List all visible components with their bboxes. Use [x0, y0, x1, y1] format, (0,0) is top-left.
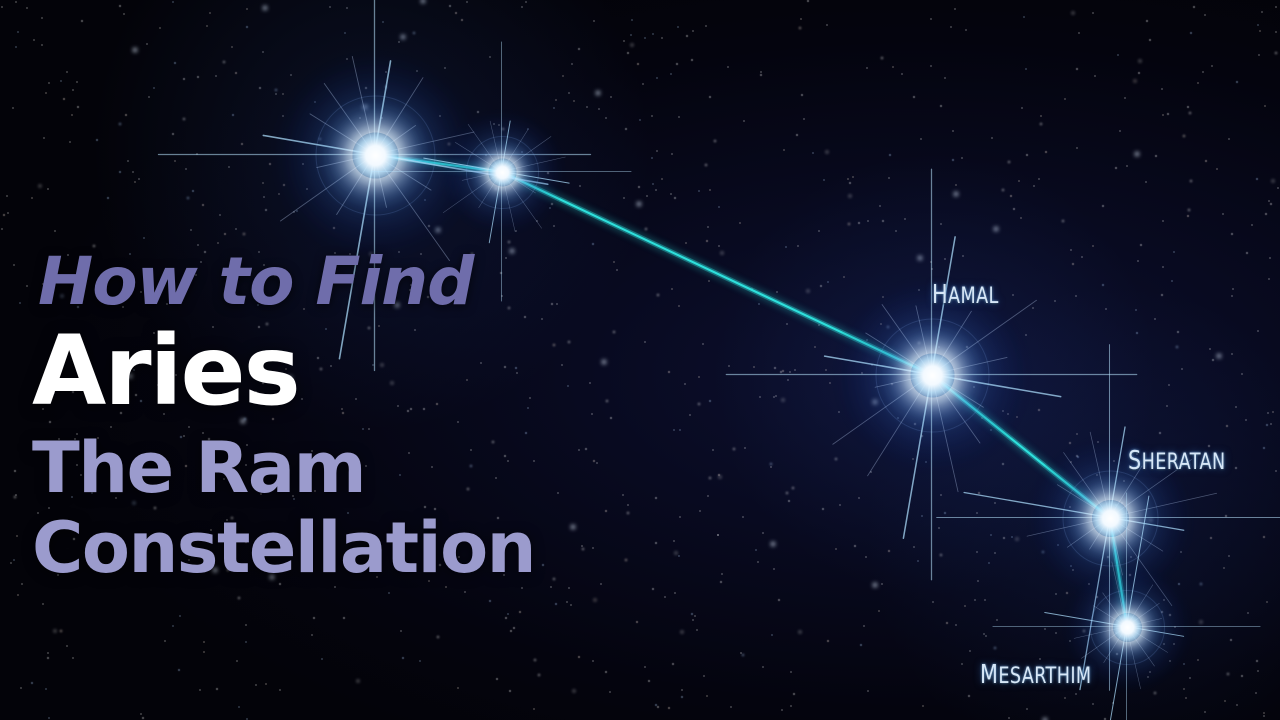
subtitle-line-1: The Ram — [32, 429, 672, 509]
background-starfield — [0, 0, 2, 2]
headline-block: How to Find Aries The Ram Constellation — [32, 248, 672, 589]
page-title: Aries — [32, 323, 672, 419]
subtitle-text: The Ram Constellation — [32, 429, 672, 589]
constellation-graphic: HamalSheratanMesarthim How to Find Aries… — [0, 0, 1280, 720]
star-label-sheratan: Sheratan — [1128, 434, 1226, 478]
eyebrow-text: How to Find — [38, 248, 672, 315]
subtitle-line-2: Constellation — [32, 509, 672, 589]
star-label-hamal: Hamal — [932, 268, 999, 312]
star-label-mesarthim: Mesarthim — [980, 648, 1092, 692]
